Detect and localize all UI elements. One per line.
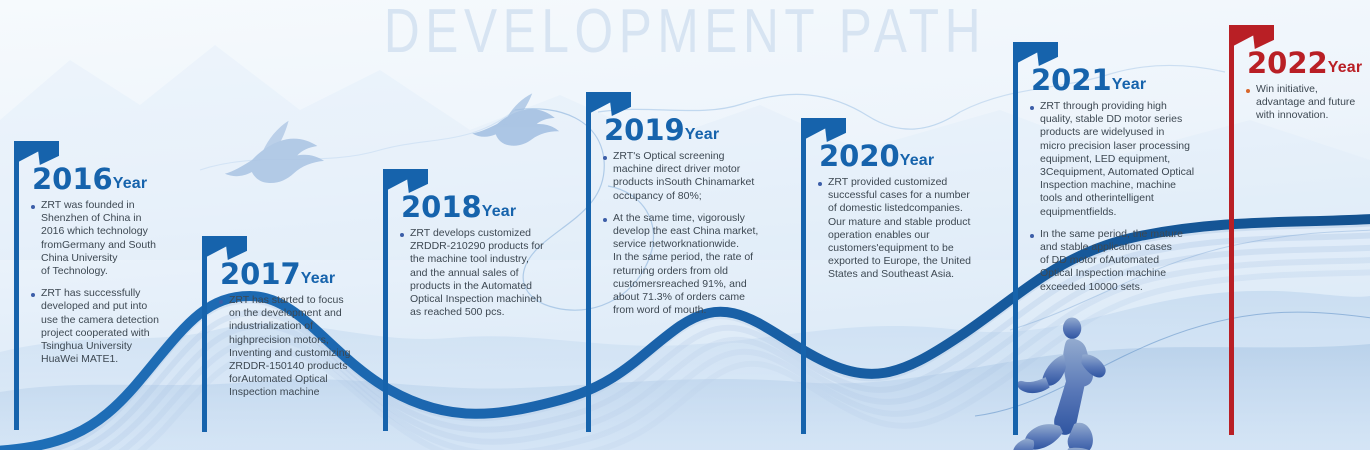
milestone-bullets: Win initiative, advantage and future wit… [1245,83,1370,123]
bullet-dot-icon [1030,234,1034,238]
development-path-infographic: DEVELOPMENT PATH 2016Year ZRT was founde… [0,0,1370,450]
bullet-text: ZRT was founded in Shenzhen of China in … [41,199,226,278]
bullet-text: ZRT's Optical screening machine direct d… [613,150,794,203]
year-suffix: Year [1112,76,1147,93]
year-suffix: Year [685,126,720,143]
milestone-bullets: ZRT was founded in Shenzhen of China in … [30,199,226,366]
list-item: ZRT through providing high quality, stab… [1029,100,1235,219]
flag-pole [801,118,806,434]
list-item: ZRT has successfully developed and put i… [30,287,226,366]
flag-pole [383,169,388,431]
list-item: ZRT provided customized successful cases… [817,176,1013,282]
bullet-dot-icon [219,300,223,304]
year-number: 2021 [1031,63,1112,97]
list-item: ZRT's Optical screening machine direct d… [602,150,794,203]
bullet-text: In the same period, the mature and stabl… [1040,228,1235,294]
year-number: 2020 [819,139,900,173]
bullet-dot-icon [603,218,607,222]
bullet-text: ZRT through providing high quality, stab… [1040,100,1235,219]
list-item: At the same time, vigorously develop the… [602,212,794,318]
year-number: 2022 [1247,46,1328,80]
list-item: Win initiative, advantage and future wit… [1245,83,1370,123]
year-number: 2018 [401,190,482,224]
bullet-dot-icon [603,156,607,160]
list-item: In the same period, the mature and stabl… [1029,228,1235,294]
bullet-dot-icon [31,293,35,297]
bullet-text: ZRT has successfully developed and put i… [41,287,226,366]
milestone-bullets: ZRT provided customized successful cases… [817,176,1013,282]
year-suffix: Year [900,152,935,169]
milestone-bullets: ZRT develops customized ZRDDR-210290 pro… [399,227,595,319]
year-suffix: Year [1328,59,1363,76]
bullet-dot-icon [818,182,822,186]
bullet-text: Win initiative, advantage and future wit… [1256,83,1370,123]
year-suffix: Year [113,175,148,192]
bullet-text: At the same time, vigorously develop the… [613,212,794,318]
bullet-text: ZRT develops customized ZRDDR-210290 pro… [410,227,595,319]
milestone-bullets: ZRT through providing high quality, stab… [1029,100,1235,294]
milestone-year-2020: 2020Year [819,142,934,171]
flag-pole [1013,42,1018,435]
milestone-year-2018: 2018Year [401,193,516,222]
milestone-year-2022: 2022Year [1247,49,1362,78]
list-item: ZRT develops customized ZRDDR-210290 pro… [399,227,595,319]
milestone-year-2016: 2016Year [32,165,147,194]
flag-pole [14,141,19,430]
bullet-text: ZRT provided customized successful cases… [828,176,1013,282]
flag-pole [586,92,591,432]
bullet-dot-icon [31,205,35,209]
flag-pole [202,236,207,432]
milestone-year-2017: 2017Year [220,260,335,289]
flag-pole [1229,25,1234,435]
bullet-dot-icon [1030,106,1034,110]
year-number: 2019 [604,113,685,147]
milestone-bullets: ZRT's Optical screening machine direct d… [602,150,794,317]
list-item: ZRT was founded in Shenzhen of China in … [30,199,226,278]
year-suffix: Year [482,203,517,220]
milestone-year-2021: 2021Year [1031,66,1146,95]
milestone-year-2019: 2019Year [604,116,719,145]
year-number: 2016 [32,162,113,196]
bullet-dot-icon [400,233,404,237]
year-number: 2017 [220,257,301,291]
bullet-dot-icon [1246,89,1250,93]
year-suffix: Year [301,270,336,287]
page-title: DEVELOPMENT PATH [137,0,1233,67]
